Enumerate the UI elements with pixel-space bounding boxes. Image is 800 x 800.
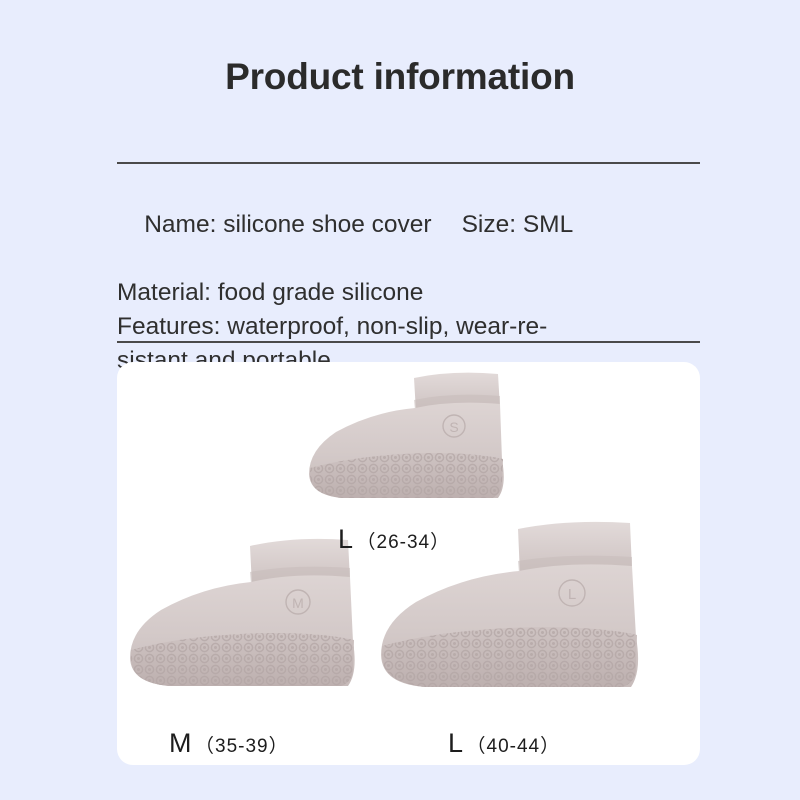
divider-bottom xyxy=(117,341,700,343)
shoe-cover-small: S xyxy=(302,364,562,534)
size-caption-large: L（40-44） xyxy=(448,728,560,759)
page-title: Product information xyxy=(0,56,800,98)
size-caption-medium: M（35-39） xyxy=(169,728,289,759)
size-range: （35-39） xyxy=(195,736,289,757)
spec-name: Name: silicone shoe cover xyxy=(144,211,431,238)
spec-material: Material: food grade silicone xyxy=(117,276,717,310)
size-range: （40-44） xyxy=(467,736,561,757)
size-caption-small: L（26-34） xyxy=(338,524,450,555)
svg-text:L: L xyxy=(568,586,576,603)
size-range: （26-34） xyxy=(357,532,451,553)
size-letter: L xyxy=(448,728,464,758)
product-image-card: S M xyxy=(117,362,700,765)
svg-text:M: M xyxy=(292,595,304,611)
shoe-small-graphic: S xyxy=(309,373,504,498)
svg-text:S: S xyxy=(449,419,458,435)
spec-features-line-1: Features: waterproof, non-slip, wear-re- xyxy=(117,310,717,344)
shoe-medium-graphic: M xyxy=(130,539,355,686)
size-letter: M xyxy=(169,728,192,758)
spec-row-name-size: Name: silicone shoe coverSize: SML xyxy=(117,174,717,276)
product-specs: Name: silicone shoe coverSize: SML Mater… xyxy=(117,174,717,378)
spec-size: Size: SML xyxy=(462,211,574,238)
divider-top xyxy=(117,162,700,164)
size-letter: L xyxy=(338,524,354,554)
shoe-cover-medium: M xyxy=(122,532,412,732)
